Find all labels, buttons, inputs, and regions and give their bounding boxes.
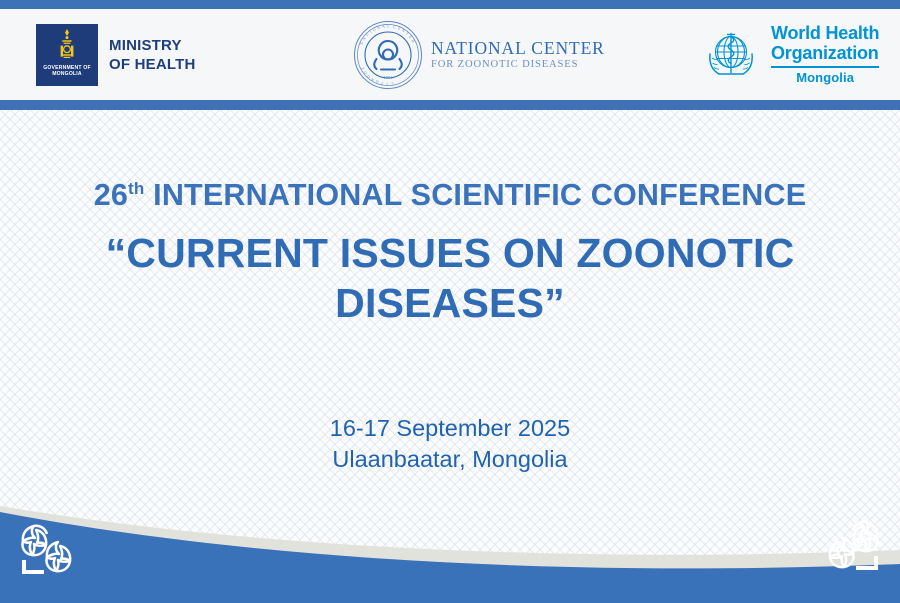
mongolian-knot-ornament-icon — [14, 518, 88, 580]
mongolian-knot-ornament-left — [14, 518, 88, 585]
svg-text:O: O — [372, 27, 377, 32]
bottom-wave-decoration — [0, 468, 900, 603]
svg-text:C: C — [393, 24, 397, 29]
svg-text:E: E — [408, 34, 413, 39]
header-divider-bar — [0, 100, 900, 110]
svg-text:L: L — [387, 24, 390, 28]
svg-text:O: O — [375, 78, 379, 83]
svg-text:N: N — [401, 28, 406, 33]
svg-text:C: C — [390, 81, 394, 85]
mongolian-knot-ornament-icon — [812, 514, 886, 576]
who-name-line1: World Health — [771, 24, 879, 44]
mongolian-knot-ornament-right — [812, 514, 886, 581]
conference-title-slide: GOVERNMENT OF MONGOLIA MINISTRY OF HEALT… — [0, 0, 900, 603]
national-center-name-line2: FOR ZOONOTIC DISEASES — [431, 58, 605, 72]
who-mongolia-logo: World Health Organization Mongolia — [700, 9, 879, 100]
biohazard-seal-icon: 1951 N A T I O N A L C E N T E — [352, 19, 424, 91]
who-divider-rule — [771, 66, 879, 68]
svg-text:N: N — [370, 76, 375, 81]
seal-year: 1951 — [383, 75, 393, 80]
who-country-label: Mongolia — [771, 70, 879, 85]
national-center-zoonotic-diseases-logo: 1951 N A T I O N A L C E N T E — [352, 9, 605, 100]
page-title: “CURRENT ISSUES ON ZOONOTIC DISEASES” — [60, 228, 840, 328]
svg-text:R: R — [411, 39, 416, 44]
soyombo-icon — [54, 28, 80, 64]
conference-ordinal-suffix: th — [128, 179, 144, 198]
logo-header-band: GOVERNMENT OF MONGOLIA MINISTRY OF HEALT… — [0, 9, 900, 100]
emblem-badge-line2: MONGOLIA — [52, 71, 82, 77]
ministry-of-health-logo: GOVERNMENT OF MONGOLIA MINISTRY OF HEALT… — [36, 9, 196, 100]
svg-text:T: T — [365, 32, 370, 37]
conference-edition-line: 26th INTERNATIONAL SCIENTIFIC CONFERENCE — [0, 178, 900, 213]
conference-number: 26 — [94, 178, 128, 212]
svg-text:N: N — [377, 25, 381, 30]
svg-text:I: I — [386, 81, 388, 85]
who-name-line2: Organization — [771, 44, 879, 64]
svg-text:O: O — [363, 70, 368, 75]
who-rod-of-asclepius-icon — [700, 24, 762, 86]
svg-text:A: A — [382, 24, 386, 28]
conference-line-text: INTERNATIONAL SCIENTIFIC CONFERENCE — [144, 178, 806, 212]
ministry-name-line1: MINISTRY — [109, 36, 196, 55]
svg-text:Z: Z — [360, 65, 365, 70]
svg-text:O: O — [366, 73, 371, 78]
top-accent-bar — [0, 0, 900, 9]
ministry-of-health-name: MINISTRY OF HEALTH — [109, 36, 196, 74]
conference-meta: 16-17 September 2025 Ulaanbaatar, Mongol… — [0, 413, 900, 475]
ministry-name-line2: OF HEALTH — [109, 55, 196, 74]
who-wordmark: World Health Organization Mongolia — [771, 24, 879, 85]
mongolia-government-emblem-badge: GOVERNMENT OF MONGOLIA — [36, 24, 98, 86]
svg-text:N: N — [360, 41, 365, 45]
national-center-name-line1: NATIONAL CENTER — [431, 38, 605, 58]
svg-text:A: A — [362, 36, 367, 41]
conference-date: 16-17 September 2025 — [0, 413, 900, 444]
